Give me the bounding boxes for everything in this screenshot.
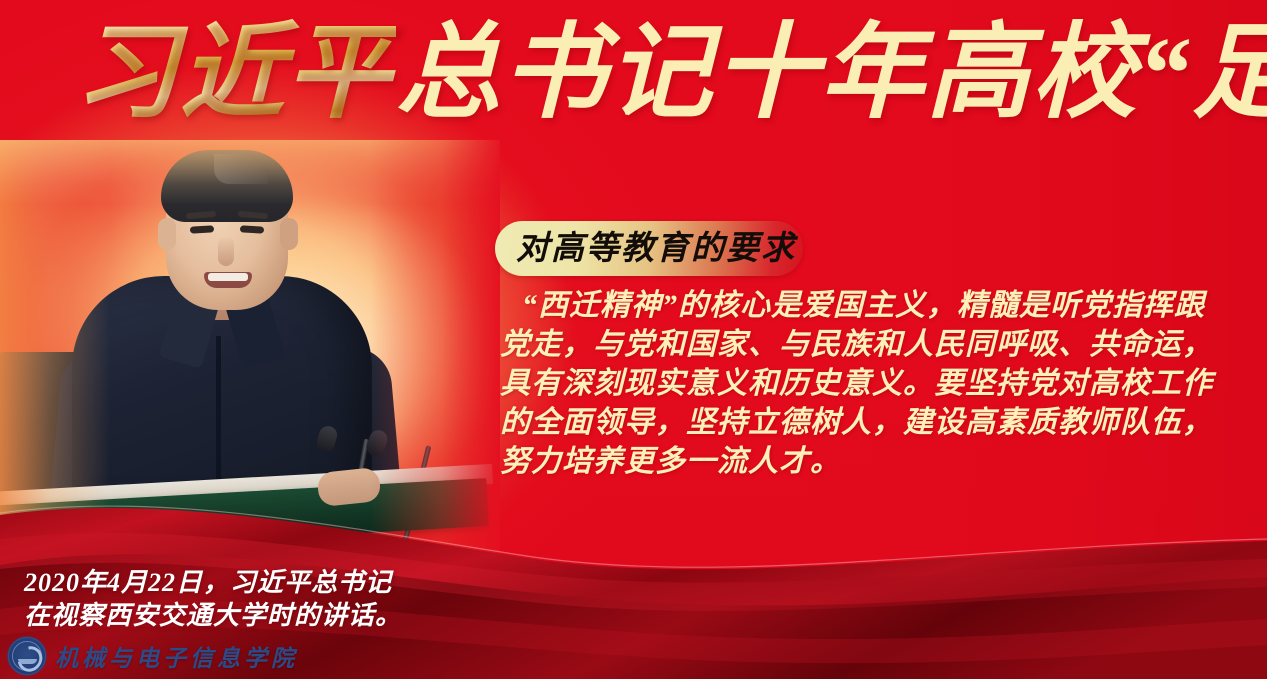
page-title-cream: 总书记十年高校“足迹” xyxy=(396,16,1267,131)
ear-left xyxy=(158,218,176,250)
photo-caption: 2020年4月22日，习近平总书记 在视察西安交通大学时的讲话。 xyxy=(24,566,544,632)
college-seal-icon xyxy=(8,637,46,675)
teeth xyxy=(208,273,248,281)
seal-bar xyxy=(18,659,37,664)
caption-line: 2020年4月22日，习近平总书记 xyxy=(24,566,544,599)
eye-right xyxy=(240,225,264,233)
eye-left xyxy=(190,225,214,233)
quote-line: 具有深刻现实意义和历史意义。要坚持党对高校工作 xyxy=(500,364,1260,403)
quote-line: 努力培养更多一流人才。 xyxy=(500,442,1260,481)
quote-line: “西迁精神”的核心是爱国主义，精髓是听党指挥跟 xyxy=(500,286,1260,325)
section-banner-label: 对高等教育的要求 xyxy=(516,225,816,273)
ear-right xyxy=(280,218,298,250)
college-name: 机械与电子信息学院 xyxy=(55,639,298,673)
caption-line: 在视察西安交通大学时的讲话。 xyxy=(24,599,544,632)
mouth xyxy=(204,272,252,288)
quote-line: 党走，与党和国家、与民族和人民同呼吸、共命运， xyxy=(500,325,1260,364)
page-title-gold: 习近平 xyxy=(74,16,396,131)
quote-line: 的全面领导，坚持立德树人，建设高素质教师队伍， xyxy=(500,403,1260,442)
footer-branding: 机械与电子信息学院 xyxy=(8,637,298,675)
page-title: 习近平总书记十年高校“足迹” xyxy=(74,8,1224,148)
quote-paragraph: “西迁精神”的核心是爱国主义，精髓是听党指挥跟 党走，与党和国家、与民族和人民同… xyxy=(500,286,1260,481)
nose xyxy=(218,236,234,266)
poster-canvas: 习近平总书记十年高校“足迹” 对高等教育的要求 “西迁精神”的核心是爱国主义，精… xyxy=(0,0,1267,679)
